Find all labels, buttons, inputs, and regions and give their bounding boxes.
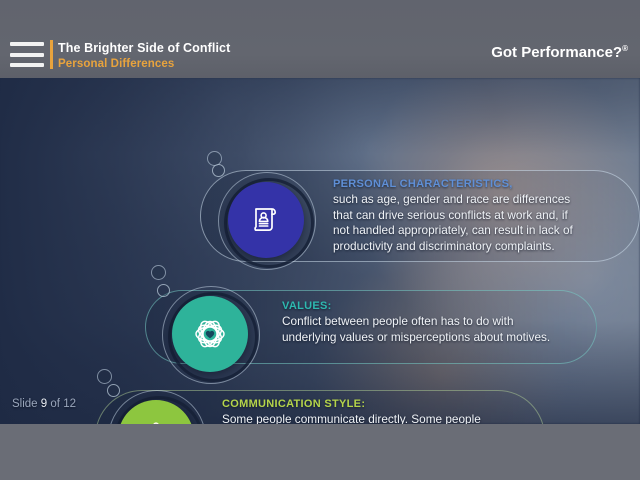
people-speech-bubble-icon [135, 417, 177, 424]
atom-heart-icon [188, 312, 232, 356]
text-block-communication-style: COMMUNICATION STYLE: Some people communi… [222, 398, 532, 424]
hamburger-bar [10, 63, 44, 67]
slide-counter-total: 12 [63, 398, 76, 410]
slide-counter-current: 9 [41, 398, 47, 410]
player-footer-band [0, 424, 640, 480]
hamburger-bar [10, 53, 44, 57]
node-mini-dot [207, 151, 222, 166]
text-heading: VALUES: [282, 300, 562, 312]
brand-logo: Got Performance?® [491, 44, 628, 61]
text-body: such as age, gender and race are differe… [333, 192, 583, 254]
text-block-personal-characteristics: PERSONAL CHARACTERISTICS, such as age, g… [333, 178, 583, 254]
slide-counter-prefix: Slide [12, 398, 38, 410]
slide-canvas: PERSONAL CHARACTERISTICS, such as age, g… [0, 78, 640, 424]
hamburger-menu-icon[interactable] [10, 42, 44, 67]
text-body: Conflict between people often has to do … [282, 314, 562, 345]
text-body: Some people communicate directly. Some p… [222, 412, 532, 424]
lesson-subtitle: Personal Differences [58, 58, 174, 70]
text-heading: PERSONAL CHARACTERISTICS, [333, 178, 583, 190]
slide-counter: Slide 9 of 12 [12, 398, 76, 410]
registered-mark: ® [622, 44, 628, 53]
node-mini-dot [97, 369, 112, 384]
node-disc [172, 296, 248, 372]
slide-counter-middle: of [50, 398, 60, 410]
app-header: The Brighter Side of Conflict Personal D… [0, 0, 640, 78]
pill-accent-dot [107, 384, 120, 397]
course-title: The Brighter Side of Conflict [58, 41, 230, 55]
scroll-person-icon [246, 200, 286, 240]
text-block-values: VALUES: Conflict between people often ha… [282, 300, 562, 345]
pill-accent-dot [157, 284, 170, 297]
node-mini-dot [151, 265, 166, 280]
presentation-viewer: The Brighter Side of Conflict Personal D… [0, 0, 640, 480]
hamburger-bar [10, 42, 44, 46]
text-heading: COMMUNICATION STYLE: [222, 398, 532, 410]
brand-text: Got Performance? [491, 44, 622, 61]
node-disc [228, 182, 304, 258]
header-divider [50, 40, 53, 69]
